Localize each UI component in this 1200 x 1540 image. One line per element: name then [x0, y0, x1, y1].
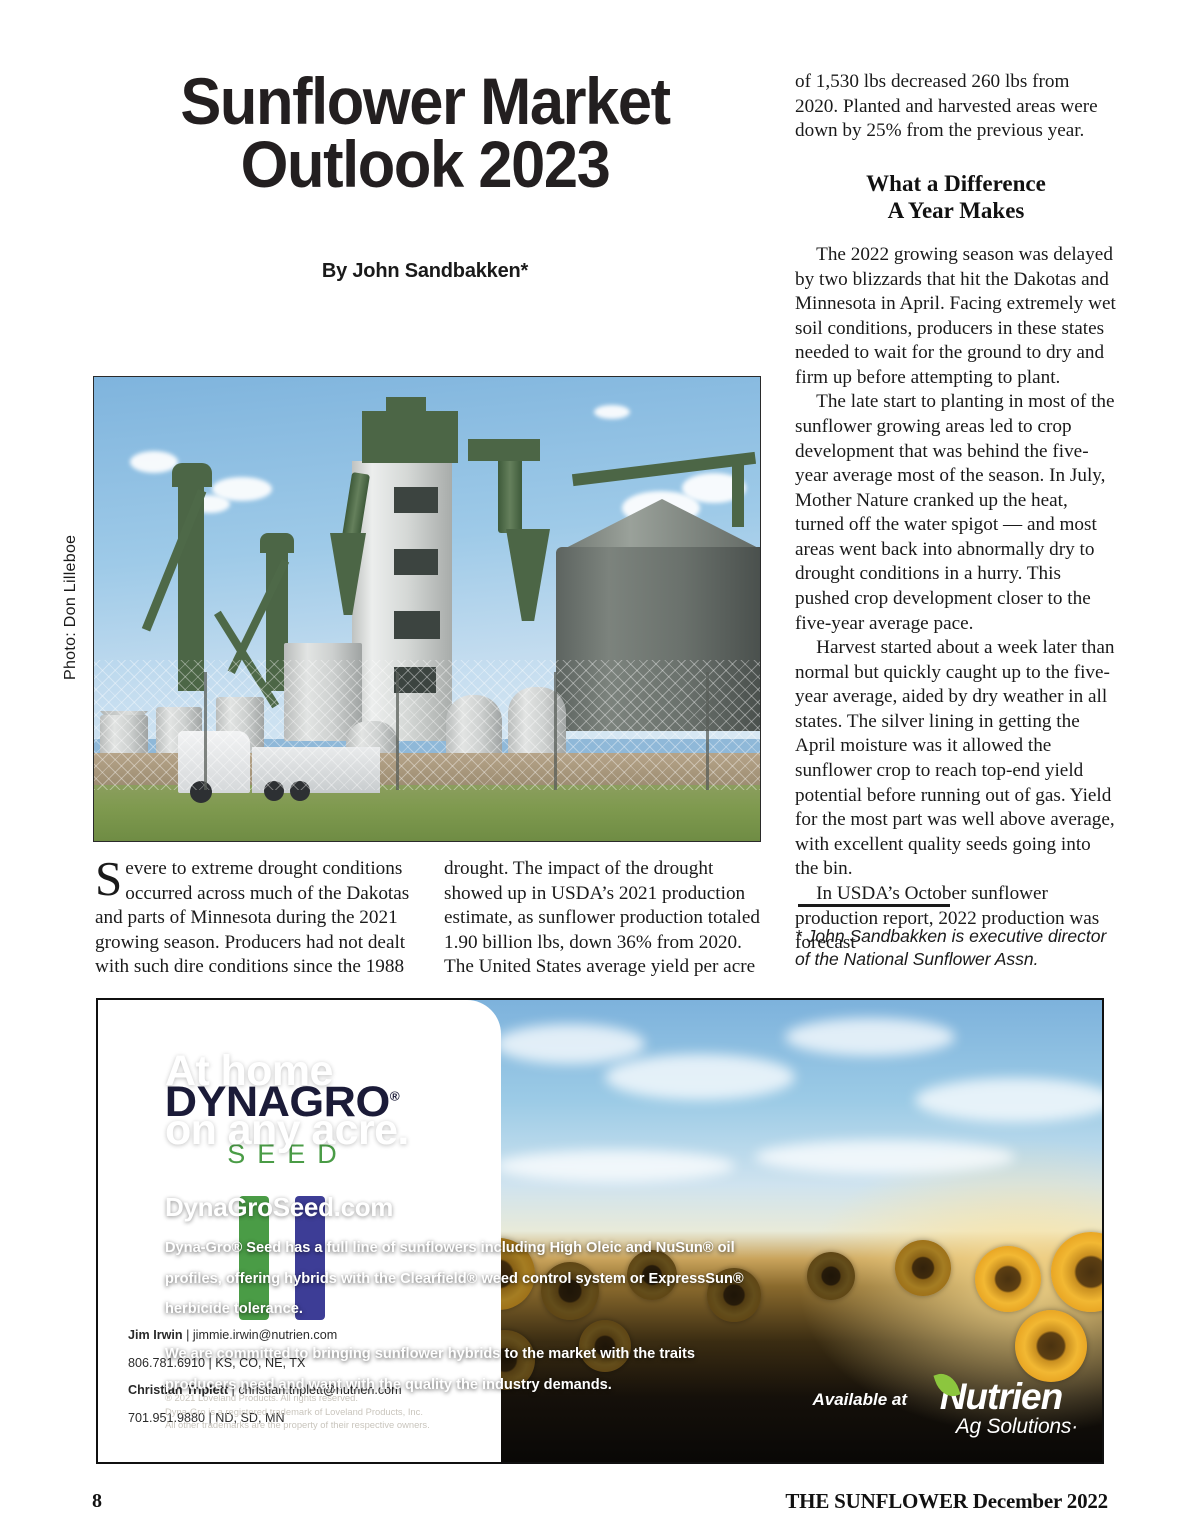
legal-line-1: ® 2021 Loveland Products. All rights res… — [165, 1391, 430, 1405]
page-title-line-1: Sunflower Market — [118, 70, 732, 133]
cloud-icon — [130, 451, 178, 473]
subhead-line-2: A Year Makes — [795, 197, 1117, 225]
nutrien-wordmark: Nutrien — [940, 1378, 1063, 1415]
ad-paragraph-1: Dyna-Gro® Seed has a full line of sunflo… — [165, 1233, 755, 1325]
ad-body-copy: Dyna-Gro® Seed has a full line of sunflo… — [165, 1233, 755, 1414]
legal-line-3: All other trademarks are the property of… — [165, 1418, 430, 1432]
tower-window — [394, 611, 440, 639]
subhead-line-1: What a Difference — [795, 170, 1117, 198]
ad-headline: At home on any acre. — [165, 1042, 409, 1161]
tower-window — [394, 487, 438, 513]
cloud-icon — [915, 1078, 1102, 1122]
body-column-left-1: Severe to extreme drought conditions occ… — [95, 857, 425, 980]
headhouse — [362, 411, 458, 463]
author-footnote: * John Sandbakken is executive director … — [795, 925, 1117, 972]
paragraph: drought. The impact of the drought showe… — [444, 857, 774, 980]
cloud-icon — [495, 1150, 735, 1182]
fence-post — [396, 672, 399, 790]
footnote-divider — [798, 904, 950, 907]
sunflower-icon — [1015, 1310, 1087, 1382]
ad-headline-line-2: on any acre. — [165, 1101, 409, 1160]
elevator-leg-head — [260, 533, 294, 553]
catwalk — [468, 439, 540, 461]
available-at-label: Available at — [813, 1390, 908, 1410]
paragraph: The 2022 growing season was delayed by t… — [795, 243, 1117, 390]
magazine-page: Sunflower Market Outlook 2023 By John Sa… — [0, 0, 1200, 1540]
legal-line-2: Dyna-Gro is a registered trademark of Lo… — [165, 1405, 430, 1419]
photo-credit: Photo: Don Lilleboe — [62, 535, 80, 680]
article-header: Sunflower Market Outlook 2023 By John Sa… — [95, 70, 755, 283]
paragraph: Severe to extreme drought conditions occ… — [95, 857, 425, 980]
advertisement[interactable]: At home on any acre. DynaGroSeed.com Dyn… — [96, 998, 1104, 1464]
paragraph: Harvest started about a week later than … — [795, 636, 1117, 882]
headhouse-top — [386, 397, 426, 417]
cloud-icon — [785, 1018, 955, 1056]
gantry-support — [732, 459, 744, 527]
elevator-leg-head — [172, 463, 212, 487]
fence-post — [204, 672, 207, 790]
section-subhead: What a Difference A Year Makes — [795, 170, 1117, 225]
tower-window — [394, 549, 438, 575]
nutrien-tagline: Ag Solutions· — [956, 1415, 1078, 1438]
paragraph: of 1,530 lbs decreased 260 lbs from 2020… — [795, 70, 1117, 144]
ad-headline-line-1: At home — [165, 1042, 409, 1101]
sunflower-icon — [975, 1246, 1041, 1312]
paragraph: The late start to planting in most of th… — [795, 390, 1117, 636]
article-photo — [93, 376, 761, 842]
page-number: 8 — [92, 1490, 102, 1513]
page-title-line-2: Outlook 2023 — [118, 133, 732, 196]
chain-link-fence — [94, 660, 760, 790]
byline: By John Sandbakken* — [95, 260, 755, 283]
cloud-icon — [495, 1024, 645, 1064]
sunflower-icon — [807, 1252, 855, 1300]
sunflower-icon — [895, 1240, 951, 1296]
nutrien-logo: Nutrien Ag Solutions· — [940, 1378, 1078, 1438]
fence-post — [706, 672, 709, 790]
body-column-right: of 1,530 lbs decreased 260 lbs from 2020… — [795, 70, 1117, 956]
publication-footer: THE SUNFLOWER December 2022 — [785, 1489, 1108, 1514]
ad-legal-text: ® 2021 Loveland Products. All rights res… — [165, 1391, 430, 1432]
sunflower-icon — [1051, 1232, 1102, 1312]
body-column-left-2: drought. The impact of the drought showe… — [444, 857, 774, 980]
fence-post — [554, 672, 557, 790]
cloud-icon — [605, 1054, 795, 1100]
cloud-icon — [594, 405, 630, 419]
conveyor-pipe — [498, 449, 522, 533]
cloud-icon — [755, 1140, 1015, 1174]
ad-website-url[interactable]: DynaGroSeed.com — [165, 1192, 393, 1223]
